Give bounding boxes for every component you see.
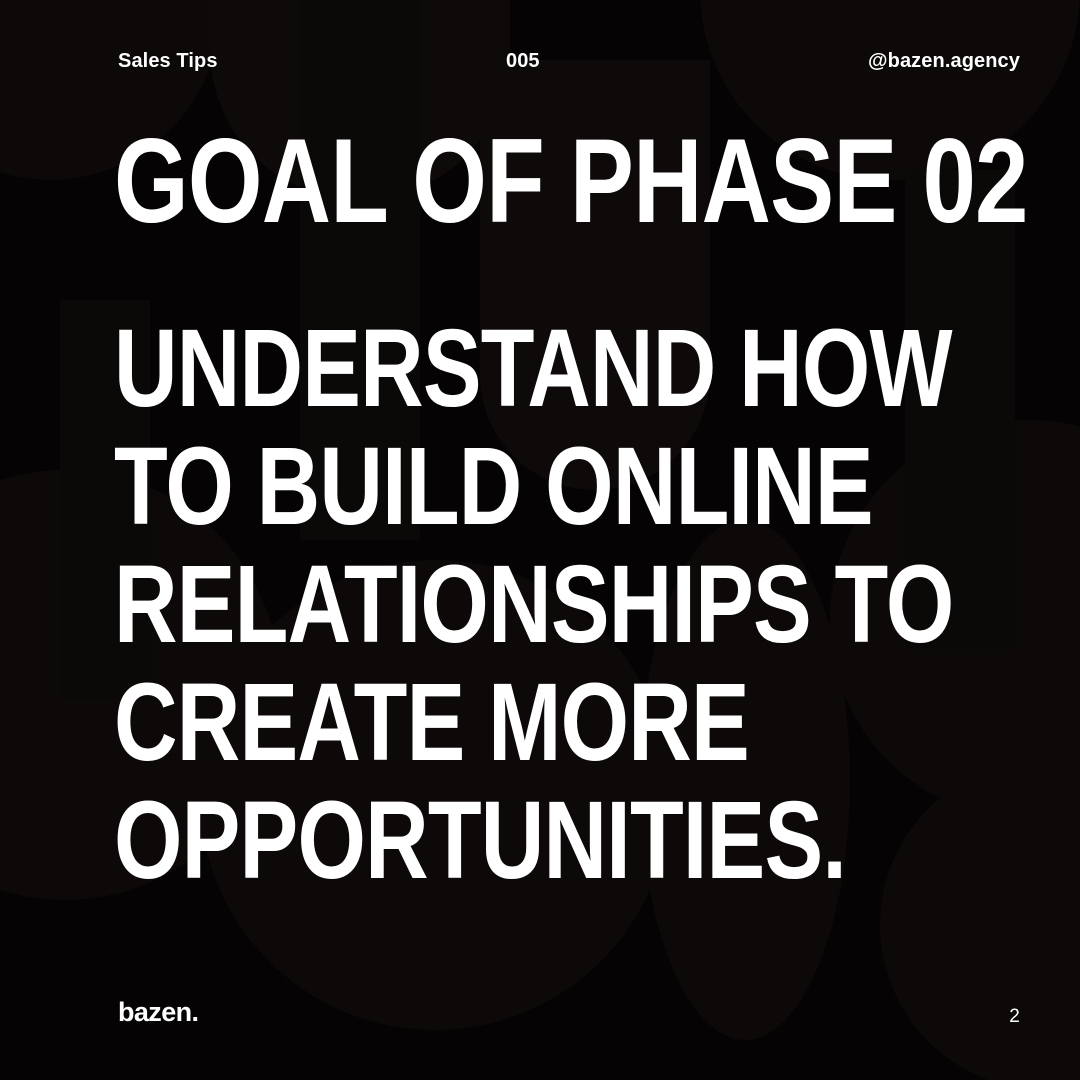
headline-line: OPPORTUNITIES. — [114, 782, 855, 900]
headline-line: RELATIONSHIPS TO — [114, 546, 855, 664]
slide-title: GOAL OF PHASE 02 — [114, 126, 1040, 236]
slide-header: Sales Tips 005 @bazen.agency — [118, 50, 1020, 73]
headline-line: TO BUILD ONLINE — [114, 428, 855, 546]
slide-headline: UNDERSTAND HOW TO BUILD ONLINE RELATIONS… — [114, 310, 1040, 900]
page-number: 2 — [1009, 1006, 1020, 1028]
title-line: GOAL OF PHASE 02 — [114, 126, 855, 236]
brand-logo: bazen. — [118, 997, 198, 1028]
headline-line: CREATE MORE — [114, 664, 855, 782]
slide-footer: bazen. 2 — [118, 997, 1020, 1028]
header-handle-label: @bazen.agency — [868, 50, 1020, 73]
slide-card: Sales Tips 005 @bazen.agency GOAL OF PHA… — [0, 0, 1080, 1080]
header-index-label: 005 — [178, 50, 868, 73]
headline-line: UNDERSTAND HOW — [114, 310, 855, 428]
